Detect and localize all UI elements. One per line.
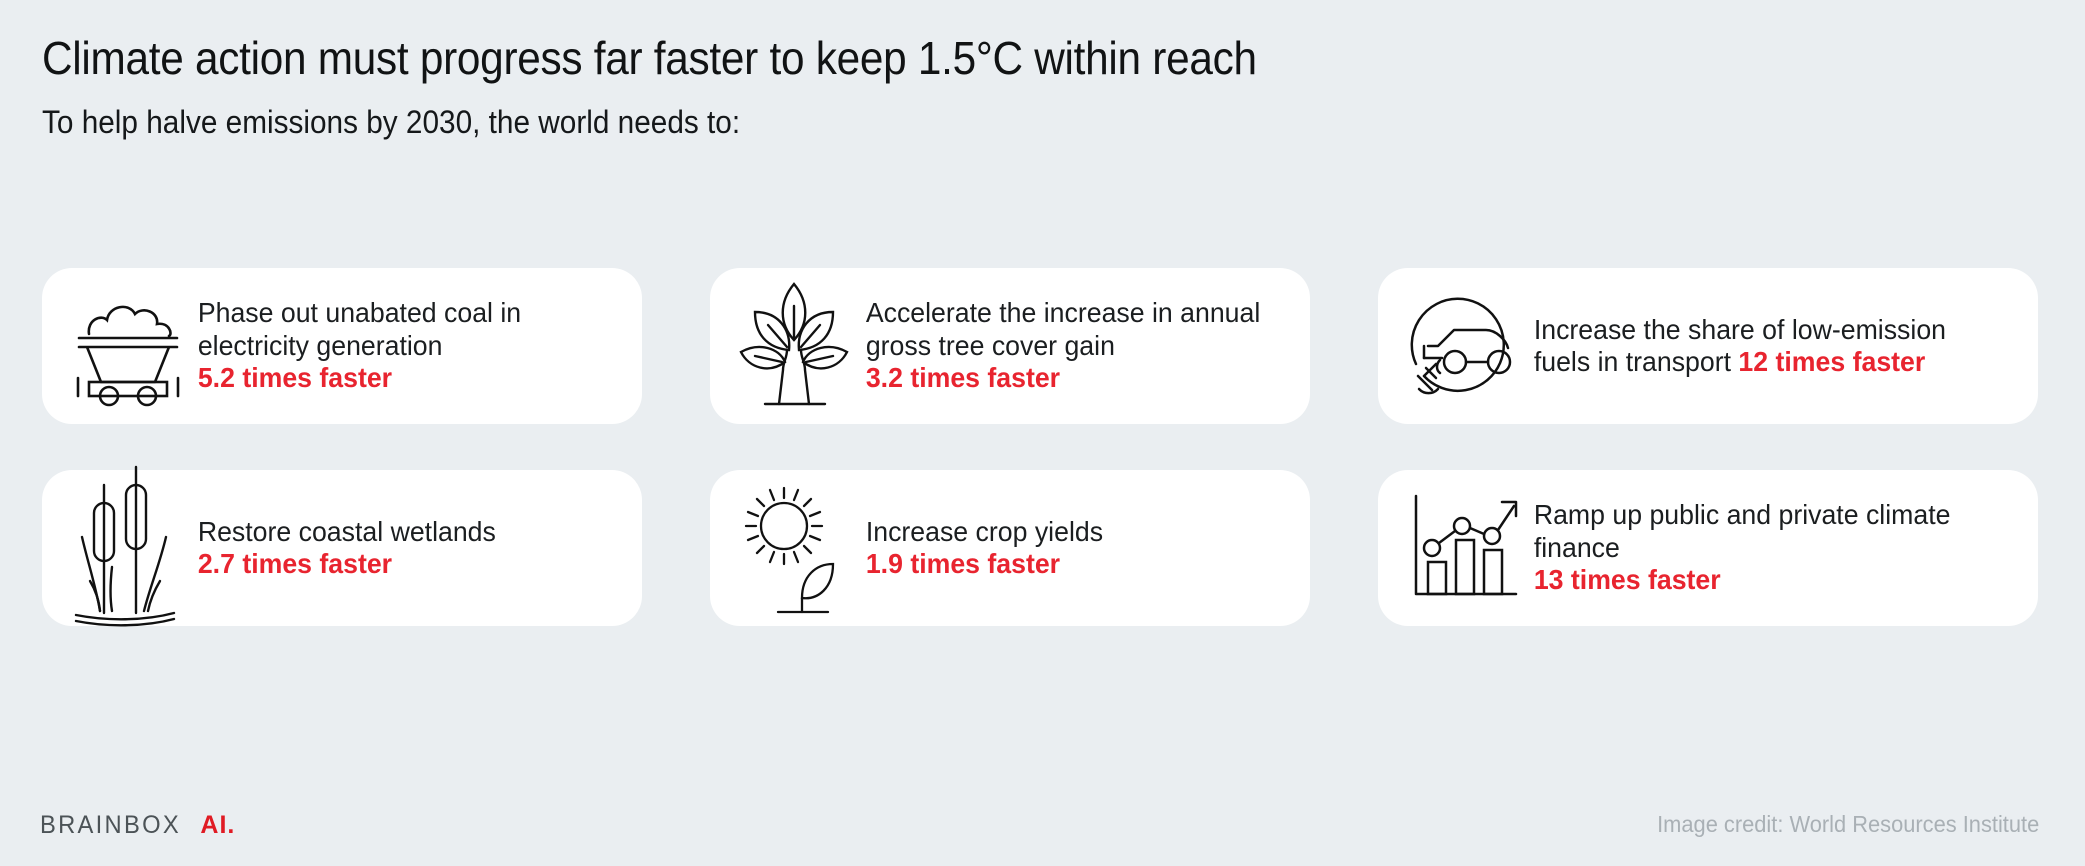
card-rate: 13 times faster [1534, 564, 1721, 595]
card-text: Restore coastal wetlands 2.7 times faste… [192, 516, 611, 581]
logo-accent-text: AI. [200, 811, 235, 840]
card-description: Phase out unabated coal in electricity g… [198, 297, 521, 360]
card-row-1: Phase out unabated coal in electricity g… [42, 268, 2042, 424]
coal-cart-icon [60, 282, 192, 410]
card-text: Increase the share of low-emission fuels… [1528, 314, 2005, 379]
card-description: Restore coastal wetlands [198, 516, 496, 547]
card-rate: 1.9 times faster [866, 548, 1060, 579]
card-rate: 2.7 times faster [198, 548, 392, 579]
card-description: Increase crop yields [866, 516, 1103, 547]
card-phase-out-coal: Phase out unabated coal in electricity g… [42, 268, 642, 424]
card-low-emission-fuels: Increase the share of low-emission fuels… [1378, 268, 2038, 424]
header: Climate action must progress far faster … [42, 34, 2002, 140]
growth-chart-icon [1396, 484, 1528, 612]
image-credit: Image credit: World Resources Institute [1657, 811, 2039, 838]
card-description: Accelerate the increase in annual gross … [866, 297, 1260, 360]
card-rate: 5.2 times faster [198, 362, 392, 393]
card-row-2: Restore coastal wetlands 2.7 times faste… [42, 470, 2042, 626]
card-text: Ramp up public and private climate finan… [1528, 499, 2005, 596]
page-subtitle: To help halve emissions by 2030, the wor… [42, 105, 1865, 140]
logo-primary-text: BRAINBOX [40, 811, 181, 840]
card-restore-wetlands: Restore coastal wetlands 2.7 times faste… [42, 470, 642, 626]
tree-icon [728, 282, 860, 410]
sun-sprout-icon [728, 484, 860, 612]
card-text: Accelerate the increase in annual gross … [860, 297, 1279, 394]
card-text: Increase crop yields 1.9 times faster [860, 516, 1279, 581]
wetland-reeds-icon [60, 484, 192, 612]
card-rate: 3.2 times faster [866, 362, 1060, 393]
footer: BRAINBOX AI. Image credit: World Resourc… [0, 800, 2085, 840]
page-title: Climate action must progress far faster … [42, 34, 1845, 83]
infographic-page: Climate action must progress far faster … [0, 0, 2085, 866]
card-crop-yields: Increase crop yields 1.9 times faster [710, 470, 1310, 626]
electric-car-icon [1396, 282, 1528, 410]
card-climate-finance: Ramp up public and private climate finan… [1378, 470, 2038, 626]
card-tree-cover-gain: Accelerate the increase in annual gross … [710, 268, 1310, 424]
card-grid: Phase out unabated coal in electricity g… [42, 268, 2042, 626]
card-description: Ramp up public and private climate finan… [1534, 499, 1951, 562]
brainbox-ai-logo: BRAINBOX AI. [40, 811, 235, 840]
card-text: Phase out unabated coal in electricity g… [192, 297, 611, 394]
card-rate: 12 times faster [1738, 346, 1925, 377]
